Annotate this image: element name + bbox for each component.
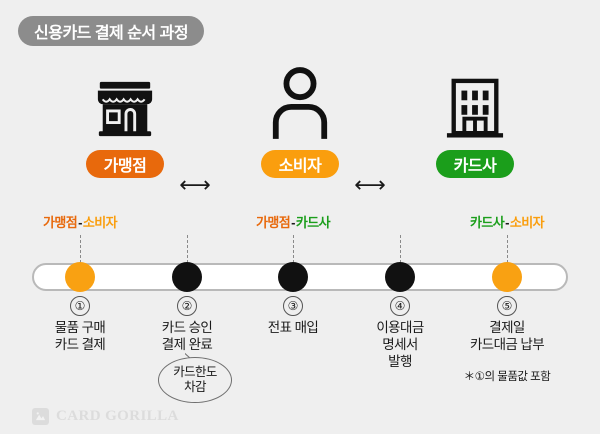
step-number-1: ① (70, 296, 90, 316)
arrow-merchant-consumer-icon: ⟷ (170, 174, 220, 196)
timeline-dot-2[interactable] (172, 262, 202, 292)
step-number-5: ⑤ (497, 296, 517, 316)
actors-row: 가맹점 소비자 (0, 62, 600, 202)
timeline-step-5: 카드사-소비자 ⑤ 결제일 카드대금 납부 ＊①의 물품값 포함 (448, 215, 566, 434)
actor-badge-consumer: 소비자 (261, 150, 340, 178)
timeline-dot-3[interactable] (278, 262, 308, 292)
step-footnote-5: ＊①의 물품값 포함 (432, 370, 582, 384)
actor-consumer: 소비자 (230, 62, 370, 178)
connector-right-5: 소비자 (510, 215, 544, 230)
step-label-5: 결제일 카드대금 납부 (432, 319, 582, 353)
connector-label-1: 가맹점-소비자 (43, 215, 117, 231)
connector-left-3: 가맹점 (256, 215, 290, 230)
storefront-icon (94, 62, 156, 140)
arrow-consumer-issuer-icon: ⟷ (345, 174, 395, 196)
connector-label-5: 카드사-소비자 (470, 215, 544, 231)
connector-left-1: 가맹점 (43, 215, 77, 230)
connector-right-3: 카드사 (296, 215, 330, 230)
connector-left-5: 카드사 (470, 215, 504, 230)
gorilla-logo-icon (32, 408, 49, 425)
actor-badge-issuer: 카드사 (436, 150, 515, 178)
timeline-dot-1[interactable] (65, 262, 95, 292)
actor-badge-merchant: 가맹점 (86, 150, 165, 178)
actor-merchant: 가맹점 (55, 62, 195, 178)
brand-name: CARD GORILLA (56, 408, 179, 425)
step-number-2: ② (177, 296, 197, 316)
connector-label-3: 가맹점-카드사 (256, 215, 330, 231)
infographic-canvas: 신용카드 결제 순서 과정 가맹점 (0, 0, 600, 434)
timeline-dot-5[interactable] (492, 262, 522, 292)
connector-right-1: 소비자 (83, 215, 117, 230)
timeline: 가맹점-소비자 ① 물품 구매 카드 결제 ② 카드 승인 결제 완료 가맹점-… (0, 215, 600, 434)
page-title: 신용카드 결제 순서 과정 (18, 16, 204, 46)
person-icon (269, 62, 331, 140)
callout-card-limit: 카드한도 차감 (158, 357, 232, 403)
timeline-dot-4[interactable] (385, 262, 415, 292)
step-number-3: ③ (283, 296, 303, 316)
actor-issuer: 카드사 (405, 62, 545, 178)
office-building-icon (445, 62, 505, 140)
step-number-4: ④ (390, 296, 410, 316)
brand-footer: CARD GORILLA (32, 408, 179, 425)
